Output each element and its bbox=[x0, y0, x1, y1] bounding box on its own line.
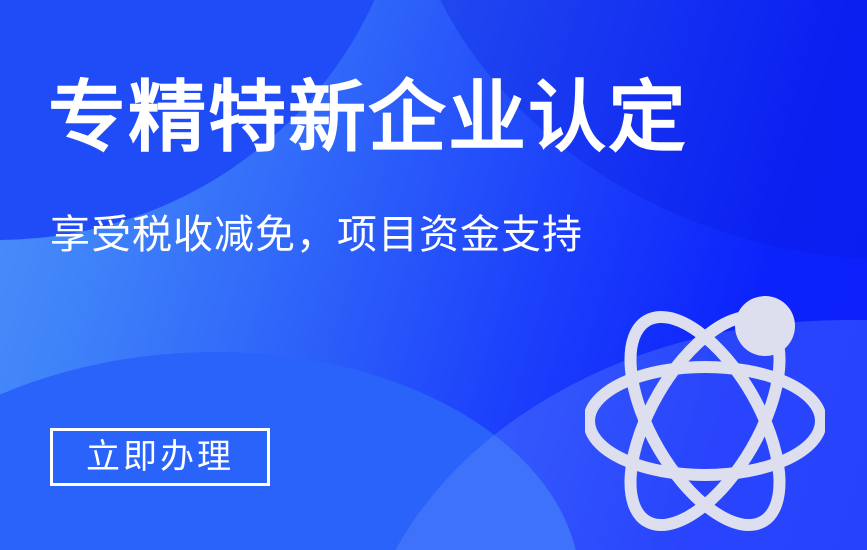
banner-subtitle: 享受税收减免，项目资金支持 bbox=[50, 210, 583, 260]
banner-content: 专精特新企业认定 享受税收减免，项目资金支持 立即办理 bbox=[48, 0, 748, 550]
apply-now-button[interactable]: 立即办理 bbox=[50, 428, 270, 486]
promo-banner: 专精特新企业认定 享受税收减免，项目资金支持 立即办理 bbox=[0, 0, 867, 550]
banner-headline: 专精特新企业认定 bbox=[48, 78, 688, 160]
